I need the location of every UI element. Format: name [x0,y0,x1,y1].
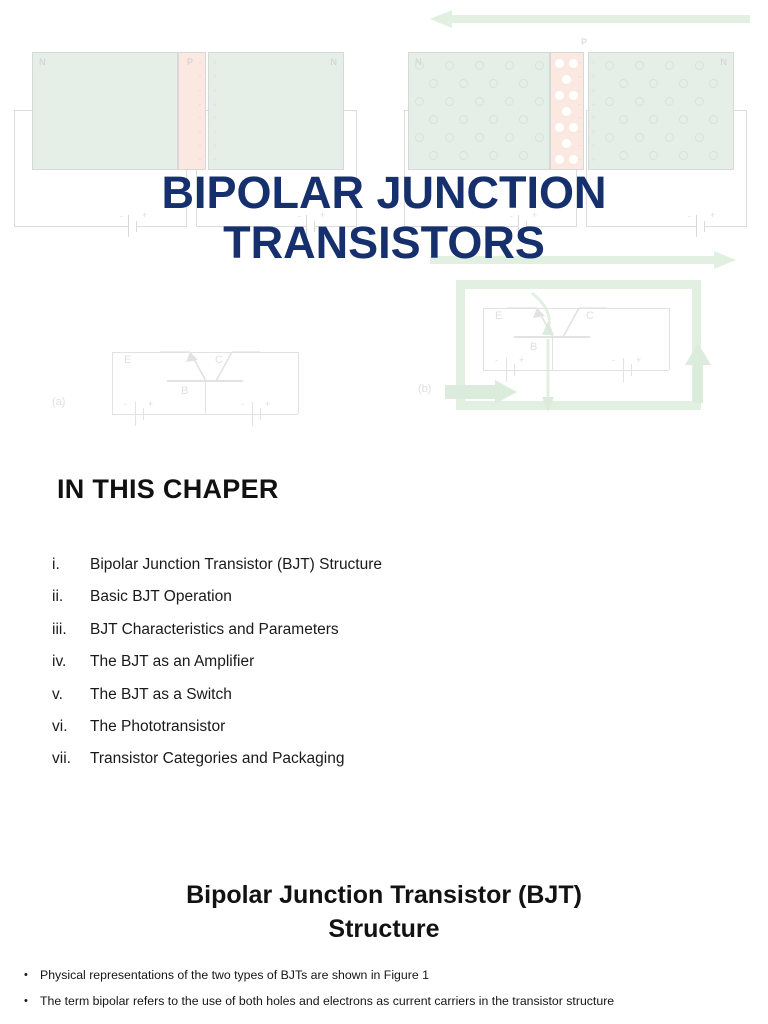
list-item-label: The BJT as a Switch [90,679,692,711]
list-item-number: iv. [52,646,90,678]
title-line-2: TRANSISTORS [0,218,768,268]
bullet-text: The term bipolar refers to the use of bo… [40,993,746,1010]
schematic-b-battery1-plus: + [519,356,524,365]
schematic-b-battery1-short [514,364,515,376]
figure-b-electron-dots-right [589,53,733,169]
schematic-b-battery2-short [631,364,632,376]
list-item-label: BJT Characteristics and Parameters [90,614,692,646]
chapter-contents-list: i. Bipolar Junction Transistor (BJT) Str… [52,549,692,776]
figure-a-n-region-right: N ++++++++ [208,52,344,170]
list-item-number: iii. [52,614,90,646]
schematic-a-loop-bottom [112,414,298,415]
bjt-structure-bullets: • Physical representations of the two ty… [24,967,746,1019]
chapter-contents-slide: IN THIS CHAPER i. Bipolar Junction Trans… [0,431,768,861]
schematic-a-label-c: C [215,354,223,366]
list-item-label: The Phototransistor [90,711,692,743]
list-item-number: ii. [52,581,90,613]
schematic-a-battery2-short [260,408,261,420]
list-item: • The term bipolar refers to the use of … [24,993,746,1010]
schematic-a-battery1-minus: - [124,400,127,409]
list-item: vi. The Phototransistor [52,711,692,743]
list-item: v. The BJT as a Switch [52,679,692,711]
schematic-b-emitter-branch [552,336,553,370]
figure-a-n-region-left: N [32,52,178,170]
schematic-b-loop-left [483,308,484,370]
schematic-a-caption: (a) [52,396,65,408]
schematic-a-loop-right [298,352,299,414]
bjt-structure-heading: Bipolar Junction Transistor (BJT) Struct… [0,878,768,946]
schematic-a-emitter-branch [205,380,206,414]
schematic-a-npn-circuit: (a) E C B - + - + [50,340,310,430]
schematic-b-label-b: B [530,341,537,353]
figure-b-n-region-right: N ++++++++ [588,52,734,170]
schematic-a-battery2-minus: - [241,400,244,409]
figure-a-negative-charges: -------- [196,56,204,166]
list-item-label: Transistor Categories and Packaging [90,743,692,775]
bullet-marker-icon: • [24,993,40,1010]
list-item-number: vi. [52,711,90,743]
schematic-b-caption: (b) [418,383,431,395]
figure-a-label-p: P [187,57,193,67]
schematic-b-loop-bottom [483,370,669,371]
figure-b-negative-charges: -------- [576,56,583,166]
list-item: vii. Transistor Categories and Packaging [52,743,692,775]
list-item: • Physical representations of the two ty… [24,967,746,984]
list-item-label: The BJT as an Amplifier [90,646,692,678]
list-item-number: i. [52,549,90,581]
figure-b-label-p: P [581,37,587,47]
list-item: iv. The BJT as an Amplifier [52,646,692,678]
list-item: ii. Basic BJT Operation [52,581,692,613]
electron-flow-arrow-left [430,9,750,29]
list-item-number: v. [52,679,90,711]
schematic-b-battery2-plus: + [636,356,641,365]
schematic-a-loop-left [112,352,113,414]
title-slide: - + - + N P -------- N ++++++++ [0,0,768,431]
bullet-text: Physical representations of the two type… [40,967,746,984]
bjt-structure-slide: Bipolar Junction Transistor (BJT) Struct… [0,861,768,1024]
schematic-b-label-c: C [586,310,594,322]
schematic-a-label-e: E [124,354,131,366]
figure-a-positive-charges: ++++++++ [211,56,219,166]
page-title: BIPOLAR JUNCTION TRANSISTORS [0,168,768,268]
figure-b-n-region-left: N [408,52,550,170]
schematic-a-battery1-long [135,402,136,426]
figure-b-p-region: -------- [550,52,584,170]
schematic-b-loop-right [669,308,670,370]
bjt-structure-heading-line-2: Structure [0,912,768,946]
schematic-a-battery2-long [252,402,253,426]
figure-a-label-n-right: N [331,57,338,67]
list-item-label: Bipolar Junction Transistor (BJT) Struct… [90,549,692,581]
schematic-a-battery1-short [143,408,144,420]
schematic-a-battery1-plus: + [148,400,153,409]
list-item: i. Bipolar Junction Transistor (BJT) Str… [52,549,692,581]
schematic-b-npn-circuit: (b) E C B - + - + [400,275,730,420]
title-line-1: BIPOLAR JUNCTION [0,168,768,218]
schematic-a-label-b: B [181,385,188,397]
schematic-a-battery2-plus: + [265,400,270,409]
schematic-a-transistor-symbol [160,350,260,384]
list-item: iii. BJT Characteristics and Parameters [52,614,692,646]
schematic-b-battery1-minus: - [495,356,498,365]
figure-a-p-region: P -------- [178,52,206,170]
chapter-contents-heading: IN THIS CHAPER [57,474,279,505]
current-loop-arrow-up [681,343,715,403]
list-item-label: Basic BJT Operation [90,581,692,613]
list-item-number: vii. [52,743,90,775]
schematic-b-label-e: E [495,310,502,322]
bullet-marker-icon: • [24,967,40,984]
schematic-b-battery1-long [506,358,507,382]
figure-a-label-n-left: N [39,57,46,67]
figure-b-electron-dots-left [409,53,549,169]
bjt-structure-heading-line-1: Bipolar Junction Transistor (BJT) [0,878,768,912]
schematic-b-battery2-long [623,358,624,382]
schematic-b-battery2-minus: - [612,356,615,365]
